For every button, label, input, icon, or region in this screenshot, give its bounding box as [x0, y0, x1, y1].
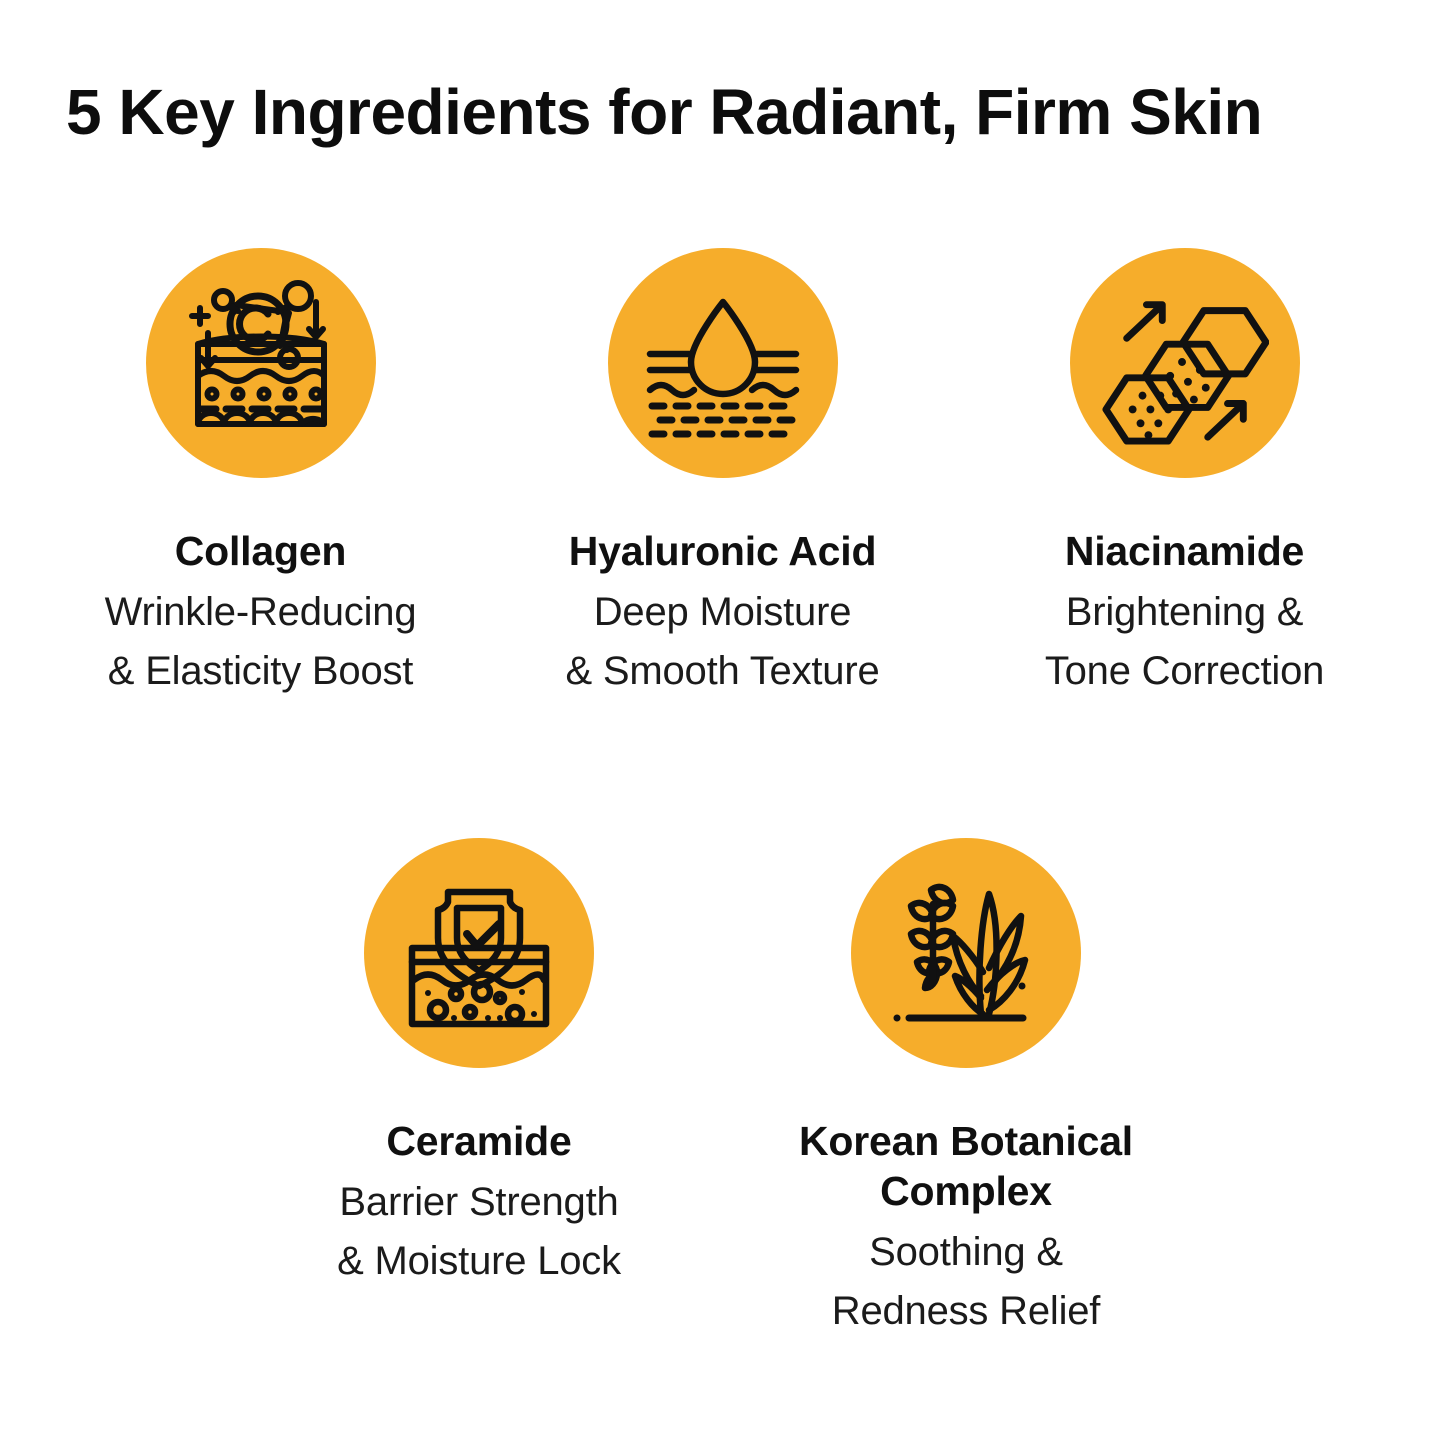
botanical-plant-leaves-icon [881, 868, 1051, 1038]
korean-botanical-text: Korean Botanical Complex Soothing & Redn… [723, 1116, 1210, 1341]
hyaluronic-acid-text: Hyaluronic Acid Deep Moisture & Smooth T… [492, 526, 954, 701]
hyaluronic-acid-badge [608, 248, 838, 478]
ingredient-description: Barrier Strength & Moisture Lock [236, 1173, 723, 1291]
ingredient-card-niacinamide[interactable]: Niacinamide Brightening & Tone Correctio… [954, 248, 1416, 701]
description-line-1: Deep Moisture [492, 583, 954, 642]
collagen-text: Collagen Wrinkle-Reducing & Elasticity B… [30, 526, 492, 701]
niacinamide-badge [1070, 248, 1300, 478]
shield-check-skin-barrier-icon [394, 868, 564, 1038]
description-line-1: Barrier Strength [236, 1173, 723, 1232]
ingredient-name: Hyaluronic Acid [492, 526, 954, 576]
ingredient-description: Soothing & Redness Relief [723, 1223, 1210, 1341]
ingredient-name: Collagen [30, 526, 492, 576]
ingredient-card-ceramide[interactable]: Ceramide Barrier Strength & Moisture Loc… [236, 838, 723, 1341]
ingredient-name-line-1: Korean Botanical [723, 1116, 1210, 1166]
collagen-skin-layers-icon [176, 278, 346, 448]
ingredient-row-bottom: Ceramide Barrier Strength & Moisture Loc… [0, 838, 1445, 1341]
niacinamide-text: Niacinamide Brightening & Tone Correctio… [954, 526, 1416, 701]
description-line-1: Brightening & [954, 583, 1416, 642]
description-line-2: & Smooth Texture [492, 642, 954, 701]
ingredient-name: Niacinamide [954, 526, 1416, 576]
ingredient-card-korean-botanical-complex[interactable]: Korean Botanical Complex Soothing & Redn… [723, 838, 1210, 1341]
korean-botanical-badge [851, 838, 1081, 1068]
ingredient-description: Brightening & Tone Correction [954, 583, 1416, 701]
ingredient-description: Wrinkle-Reducing & Elasticity Boost [30, 583, 492, 701]
ingredient-card-hyaluronic-acid[interactable]: Hyaluronic Acid Deep Moisture & Smooth T… [492, 248, 954, 701]
ingredient-name: Korean Botanical Complex [723, 1116, 1210, 1216]
description-line-2: Tone Correction [954, 642, 1416, 701]
water-droplet-hydration-icon [638, 278, 808, 448]
page-title: 5 Key Ingredients for Radiant, Firm Skin [66, 78, 1386, 147]
ingredient-card-collagen[interactable]: Collagen Wrinkle-Reducing & Elasticity B… [30, 248, 492, 701]
description-line-1: Wrinkle-Reducing [30, 583, 492, 642]
description-line-1: Soothing & [723, 1223, 1210, 1282]
honeycomb-hexagon-arrows-icon [1101, 279, 1269, 447]
ingredient-row-top: Collagen Wrinkle-Reducing & Elasticity B… [0, 248, 1445, 701]
description-line-2: & Elasticity Boost [30, 642, 492, 701]
ingredient-name-line-2: Complex [723, 1166, 1210, 1216]
ceramide-badge [364, 838, 594, 1068]
ingredient-name: Ceramide [236, 1116, 723, 1166]
collagen-badge [146, 248, 376, 478]
ingredient-description: Deep Moisture & Smooth Texture [492, 583, 954, 701]
description-line-2: Redness Relief [723, 1282, 1210, 1341]
infographic-page: 5 Key Ingredients for Radiant, Firm Skin [0, 0, 1445, 1445]
ceramide-text: Ceramide Barrier Strength & Moisture Loc… [236, 1116, 723, 1291]
description-line-2: & Moisture Lock [236, 1232, 723, 1291]
